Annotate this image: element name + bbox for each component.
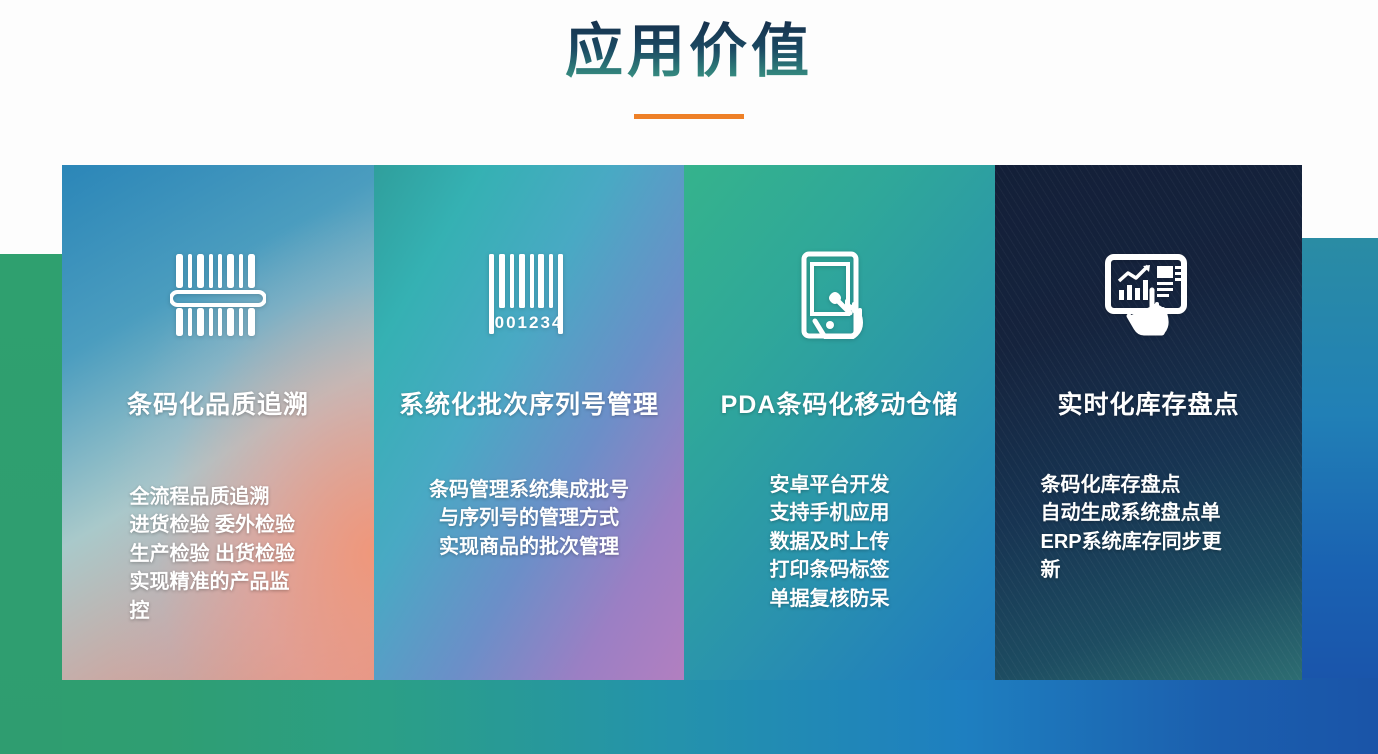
- card-body-line: 生产检验 出货检验: [130, 540, 315, 568]
- card-body: 条码化库存盘点 自动生成系统盘点单 ERP系统库存同步更 新: [1041, 471, 1263, 585]
- title-underline-rule: [634, 114, 744, 119]
- card-title: 系统化批次序列号管理: [399, 385, 659, 421]
- application-value-section: 应用价值: [0, 0, 1378, 754]
- card-body-line: 实现精准的产品监: [130, 568, 315, 596]
- card-body-line: 与序列号的管理方式: [413, 504, 645, 532]
- background-gradient-left-band: [0, 254, 62, 754]
- tablet-touch-icon: [801, 225, 879, 365]
- card-title: 实时化库存盘点: [1057, 385, 1239, 421]
- card-body-line: 条码管理系统集成批号: [413, 476, 645, 504]
- card-body-line: 进货检验 委外检验: [130, 511, 315, 539]
- card-body: 全流程品质追溯 进货检验 委外检验 生产检验 出货检验 实现精准的产品监 控: [130, 483, 315, 625]
- card-body: 安卓平台开发 支持手机应用 数据及时上传 打印条码标签 单据复核防呆: [770, 471, 920, 613]
- value-card-list: 条码化品质追溯 全流程品质追溯 进货检验 委外检验 生产检验 出货检验 实现精准…: [62, 165, 1302, 680]
- card-body-line: ERP系统库存同步更: [1041, 528, 1263, 556]
- card-body-line: 实现商品的批次管理: [413, 533, 645, 561]
- card-body-line: 新: [1041, 556, 1263, 584]
- barcode-number-icon: 001234: [486, 225, 572, 365]
- card-title: 条码化品质追溯: [127, 385, 309, 421]
- card-body-line: 支持手机应用: [770, 499, 920, 527]
- page-title: 应用价值: [565, 20, 813, 84]
- section-header: 应用价值: [0, 0, 1378, 165]
- value-card[interactable]: 条码化品质追溯 全流程品质追溯 进货检验 委外检验 生产检验 出货检验 实现精准…: [62, 165, 374, 680]
- value-card[interactable]: 实时化库存盘点 条码化库存盘点 自动生成系统盘点单 ERP系统库存同步更 新: [995, 165, 1302, 680]
- card-body: 条码管理系统集成批号 与序列号的管理方式 实现商品的批次管理: [413, 476, 645, 561]
- card-title: PDA条码化移动仓储: [721, 385, 959, 421]
- value-card[interactable]: PDA条码化移动仓储 安卓平台开发 支持手机应用 数据及时上传 打印条码标签 单…: [684, 165, 995, 680]
- card-body-line: 安卓平台开发: [770, 471, 920, 499]
- barcode-number-label: 001234: [495, 313, 564, 332]
- card-body-line: 控: [130, 597, 315, 625]
- card-body-line: 数据及时上传: [770, 528, 920, 556]
- barcode-scanner-icon: [170, 225, 266, 365]
- card-body-line: 打印条码标签: [770, 556, 920, 584]
- card-body-line: 单据复核防呆: [770, 585, 920, 613]
- tablet-dashboard-touch-icon: [1105, 225, 1193, 365]
- card-body-line: 条码化库存盘点: [1041, 471, 1263, 499]
- card-body-line: 全流程品质追溯: [130, 483, 315, 511]
- card-body-line: 自动生成系统盘点单: [1041, 499, 1263, 527]
- value-card[interactable]: 001234 系统化批次序列号管理 条码管理系统集成批号 与序列号的管理方式 实…: [374, 165, 684, 680]
